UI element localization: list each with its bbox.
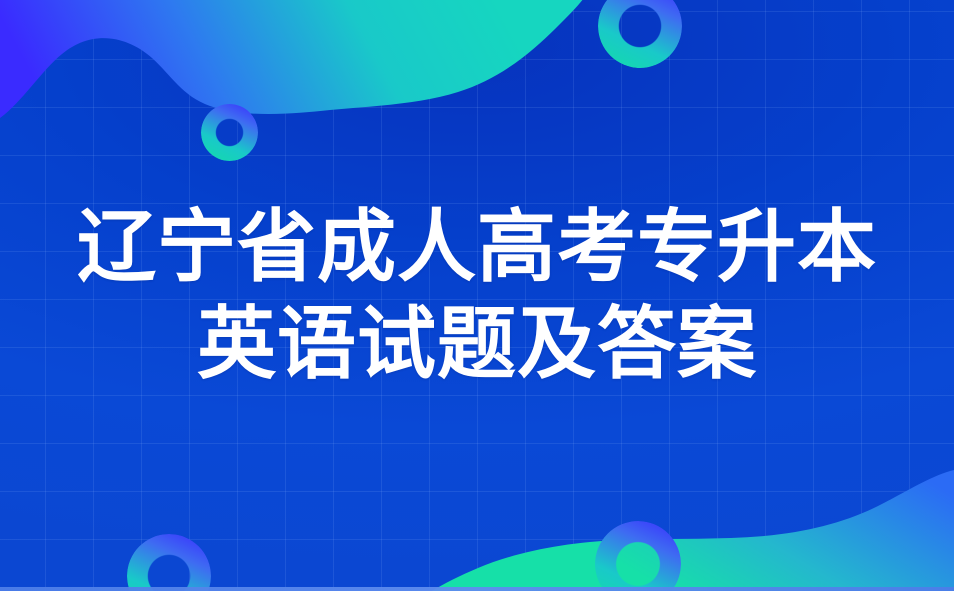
title-line-1: 辽宁省成人高考专升本 <box>77 201 877 293</box>
page-title: 辽宁省成人高考专升本 英语试题及答案 <box>0 0 954 591</box>
title-line-2: 英语试题及答案 <box>197 298 757 390</box>
bottom-accent-strip <box>0 587 954 591</box>
cover-banner: 辽宁省成人高考专升本 英语试题及答案 <box>0 0 954 591</box>
